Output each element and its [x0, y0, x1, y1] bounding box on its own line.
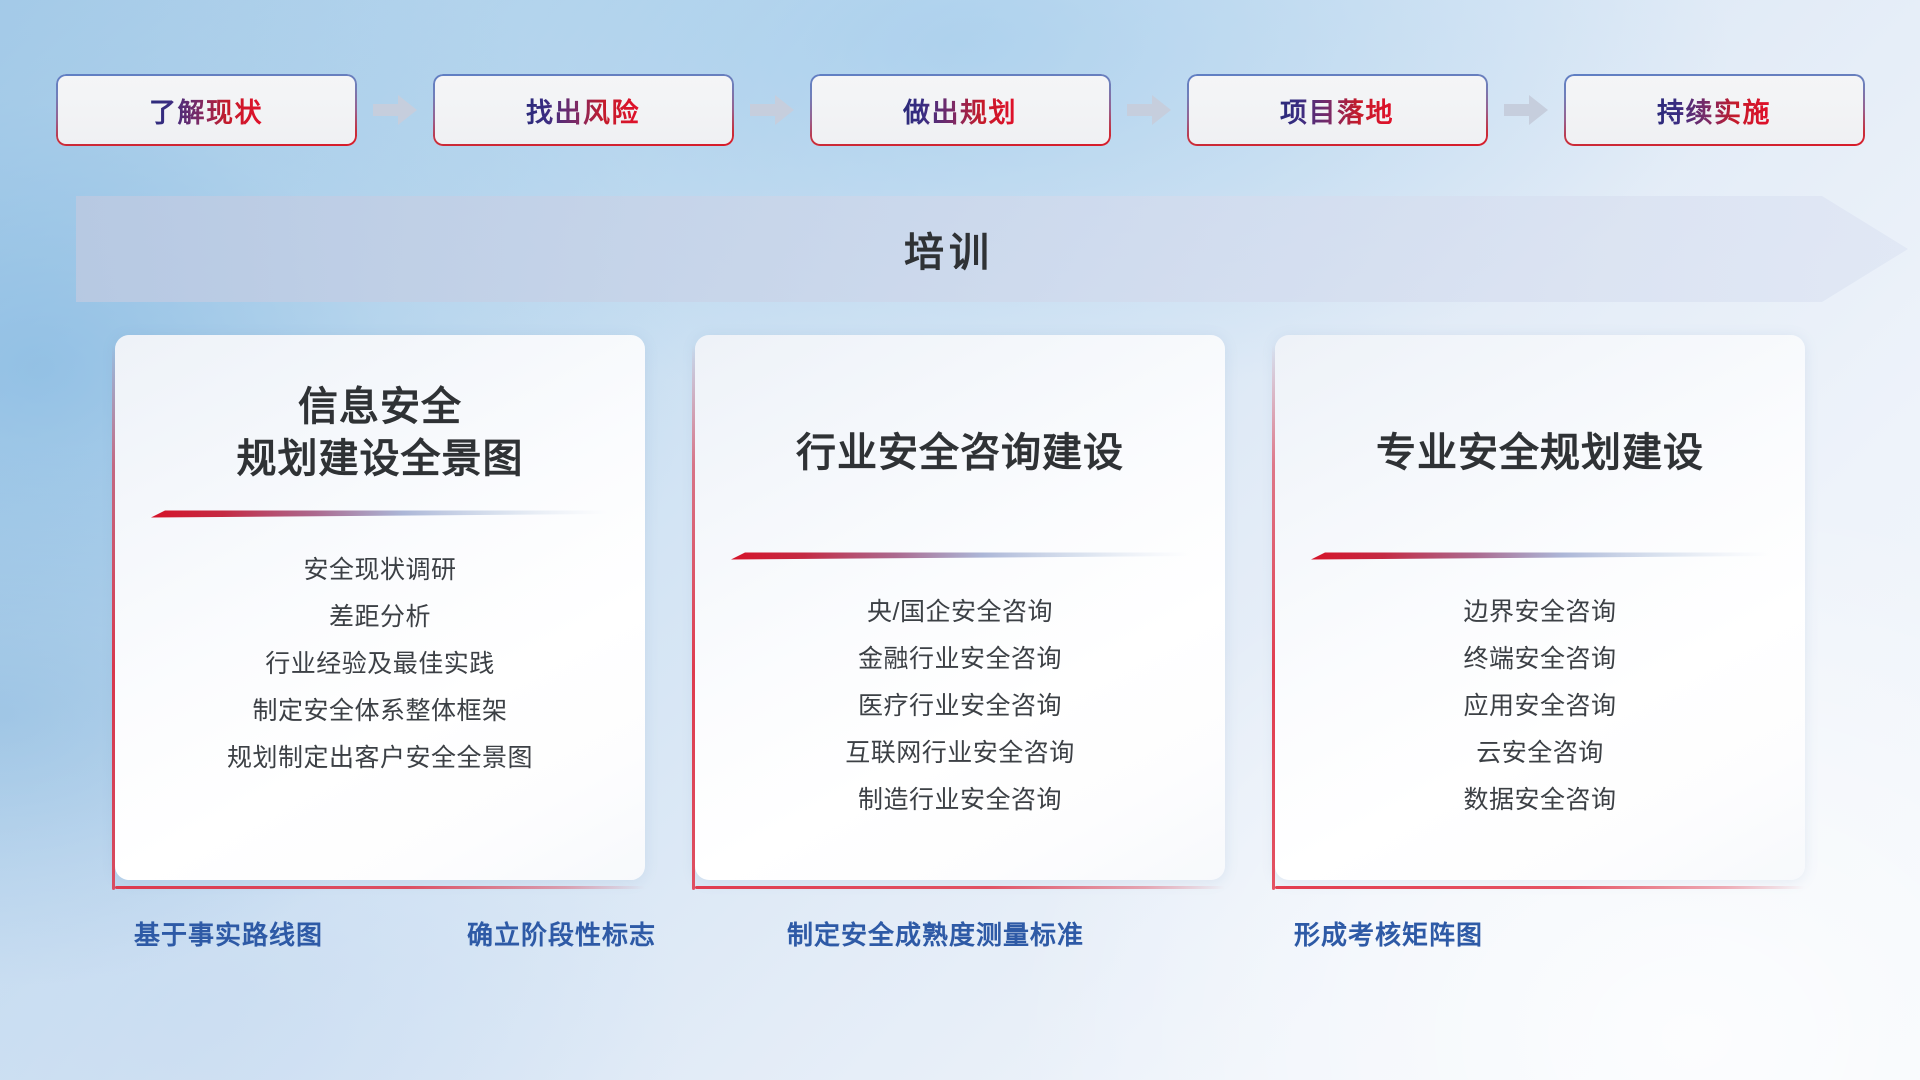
process-step-label: 项目落地: [1280, 91, 1394, 130]
card-divider: [731, 549, 1189, 561]
footer-label-3: 制定安全成熟度测量标准: [787, 915, 1084, 952]
card-list-item[interactable]: 边界安全咨询: [1463, 589, 1616, 636]
card-list-item[interactable]: 制造行业安全咨询: [858, 777, 1062, 824]
arrow-right-icon: [373, 95, 417, 125]
arrow-right-icon: [1504, 95, 1548, 125]
process-step-strip: 了解现状 找出风险 做出规划 项目落地 持续实施: [0, 74, 1920, 146]
footer-label-1: 基于事实路线图: [134, 915, 323, 952]
process-step-label: 持续实施: [1657, 91, 1771, 130]
card-list-item[interactable]: 规划制定出客户安全全景图: [227, 735, 533, 782]
training-banner: 培训: [76, 196, 1908, 302]
card-list-item[interactable]: 医疗行业安全咨询: [858, 683, 1062, 730]
process-step-label: 做出规划: [903, 91, 1017, 130]
footer-label-4: 形成考核矩阵图: [1294, 915, 1483, 952]
process-step-label: 找出风险: [526, 91, 640, 130]
service-card-3[interactable]: 专业安全规划建设 边界安全咨询终端安全咨询应用安全咨询云安全咨询数据安全咨询: [1275, 335, 1805, 880]
process-step-label: 了解现状: [149, 91, 263, 130]
card-list-item[interactable]: 金融行业安全咨询: [858, 636, 1062, 683]
banner-title: 培训: [76, 196, 1908, 302]
card-divider: [1311, 549, 1769, 561]
service-card-2[interactable]: 行业安全咨询建设 央/国企安全咨询金融行业安全咨询医疗行业安全咨询互联网行业安全…: [695, 335, 1225, 880]
card-accent-underline: [115, 886, 645, 889]
arrow-right-icon: [1127, 95, 1171, 125]
card-item-list: 央/国企安全咨询金融行业安全咨询医疗行业安全咨询互联网行业安全咨询制造行业安全咨…: [721, 589, 1199, 824]
card-list-item[interactable]: 制定安全体系整体框架: [252, 688, 507, 735]
footer-label-2: 确立阶段性标志: [467, 915, 656, 952]
card-item-list: 边界安全咨询终端安全咨询应用安全咨询云安全咨询数据安全咨询: [1301, 589, 1779, 824]
card-row: 信息安全 规划建设全景图 安全现状调研差距分析行业经验及最佳实践制定安全体系整体…: [0, 335, 1920, 890]
process-step-4[interactable]: 项目落地: [1187, 74, 1488, 146]
card-list-item[interactable]: 央/国企安全咨询: [867, 589, 1053, 636]
process-step-1[interactable]: 了解现状: [56, 74, 357, 146]
card-list-item[interactable]: 终端安全咨询: [1463, 636, 1616, 683]
card-list-item[interactable]: 数据安全咨询: [1463, 777, 1616, 824]
footer-label-row: 基于事实路线图确立阶段性标志制定安全成熟度测量标准形成考核矩阵图: [0, 915, 1920, 961]
arrow-right-icon: [750, 95, 794, 125]
card-title: 专业安全规划建设: [1376, 427, 1704, 479]
card-title: 行业安全咨询建设: [796, 427, 1124, 479]
card-list-item[interactable]: 云安全咨询: [1476, 730, 1604, 777]
service-card-1[interactable]: 信息安全 规划建设全景图 安全现状调研差距分析行业经验及最佳实践制定安全体系整体…: [115, 335, 645, 880]
card-item-list: 安全现状调研差距分析行业经验及最佳实践制定安全体系整体框架规划制定出客户安全全景…: [141, 547, 619, 782]
process-step-5[interactable]: 持续实施: [1564, 74, 1865, 146]
card-list-item[interactable]: 互联网行业安全咨询: [845, 730, 1075, 777]
card-accent-underline: [1275, 886, 1805, 889]
card-list-item[interactable]: 应用安全咨询: [1463, 683, 1616, 730]
card-list-item[interactable]: 行业经验及最佳实践: [265, 641, 495, 688]
card-divider: [151, 507, 609, 519]
process-step-2[interactable]: 找出风险: [433, 74, 734, 146]
card-accent-underline: [695, 886, 1225, 889]
process-step-3[interactable]: 做出规划: [810, 74, 1111, 146]
card-list-item[interactable]: 差距分析: [329, 594, 431, 641]
card-list-item[interactable]: 安全现状调研: [303, 547, 456, 594]
card-title: 信息安全 规划建设全景图: [237, 381, 524, 485]
